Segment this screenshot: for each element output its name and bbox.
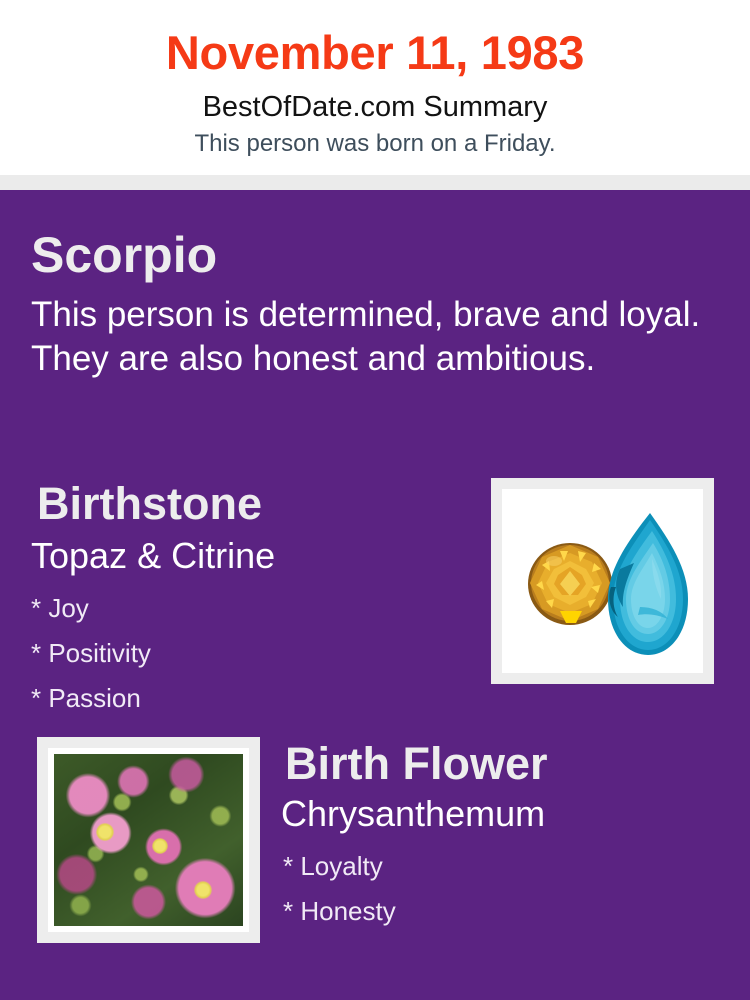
zodiac-description: This person is determined, brave and loy…	[31, 293, 701, 381]
site-name-subtitle: BestOfDate.com Summary	[0, 88, 750, 126]
birthflower-name: Chrysanthemum	[281, 792, 545, 836]
summary-card: November 11, 1983 BestOfDate.com Summary…	[0, 0, 750, 1000]
card-header: November 11, 1983 BestOfDate.com Summary…	[0, 0, 750, 175]
birthstone-trait-list: * Joy * Positivity * Passion	[31, 586, 451, 721]
page-title-date: November 11, 1983	[0, 24, 750, 82]
birthflower-image-frame	[37, 737, 260, 943]
citrine-gem	[528, 543, 612, 625]
list-item: * Joy	[31, 586, 451, 631]
birthstone-image	[502, 489, 703, 673]
list-item: * Passion	[31, 676, 451, 721]
chrysanthemum-illustration	[54, 754, 243, 926]
birthflower-trait-list: * Loyalty * Honesty	[283, 844, 703, 934]
zodiac-sign-title: Scorpio	[31, 226, 217, 284]
birthflower-image	[48, 748, 249, 932]
header-divider	[0, 175, 750, 190]
birthstone-name: Topaz & Citrine	[31, 534, 275, 578]
list-item: * Loyalty	[283, 844, 703, 889]
gemstones-illustration	[502, 489, 703, 673]
birthflower-title: Birth Flower	[285, 738, 548, 790]
list-item: * Positivity	[31, 631, 451, 676]
birth-day-note: This person was born on a Friday.	[0, 128, 750, 160]
list-item: * Honesty	[283, 889, 703, 934]
birthstone-image-frame	[491, 478, 714, 684]
birthstone-title: Birthstone	[37, 478, 262, 530]
card-body: Scorpio This person is determined, brave…	[0, 190, 750, 1000]
